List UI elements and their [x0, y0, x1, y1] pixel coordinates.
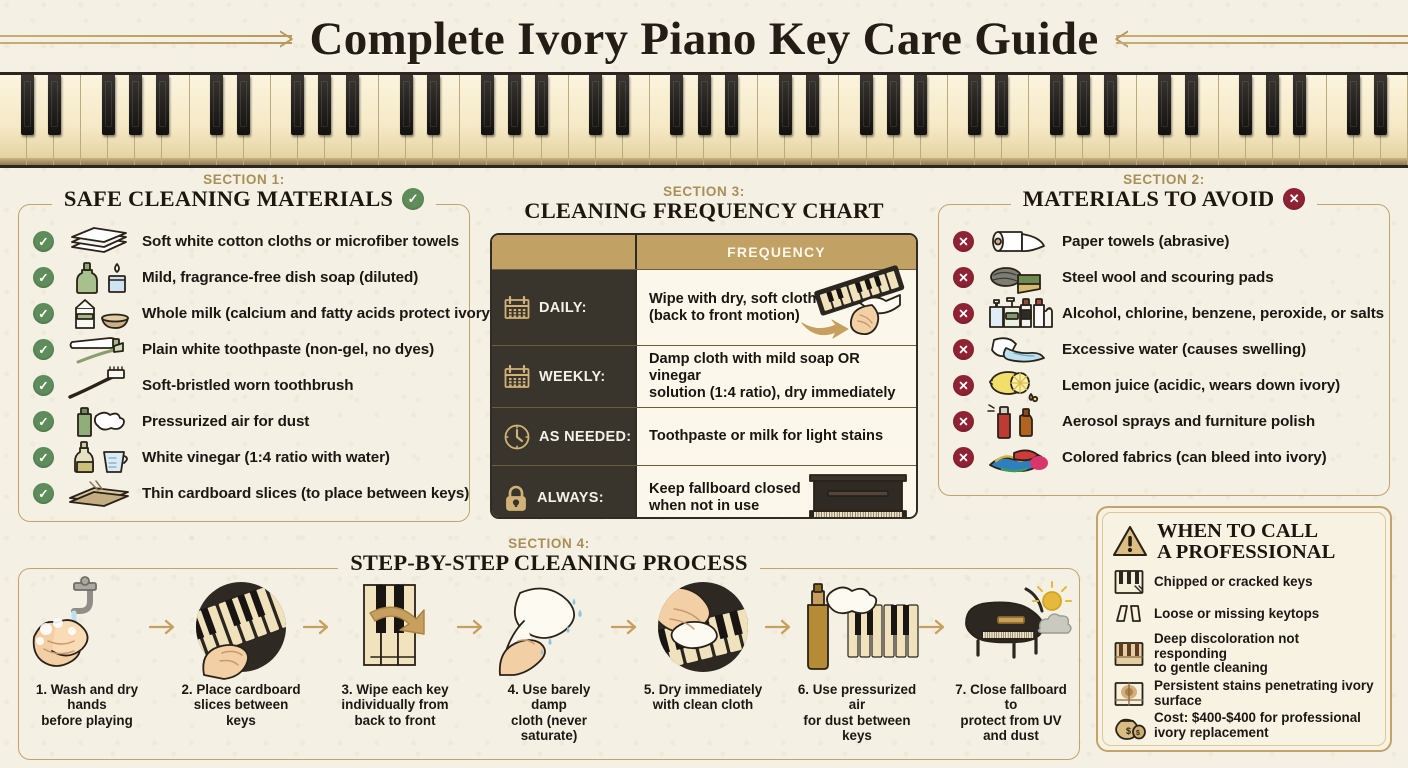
frequency-row: ALWAYS:Keep fallboard closedwhen not in …	[492, 465, 916, 519]
professional-header: WHEN TO CALL A PROFESSIONAL	[1112, 521, 1375, 563]
black-key	[318, 75, 331, 135]
frequency-row-label-cell: DAILY:	[492, 270, 637, 345]
cleaning-step: 2. Place cardboardslices between keys	[181, 579, 301, 728]
section2-kicker: SECTION 2:	[939, 172, 1389, 187]
list-item: ✕Lemon juice (acidic, wears down ivory)	[953, 367, 1379, 403]
warning-triangle-icon	[1112, 525, 1148, 558]
black-key	[806, 75, 819, 135]
frequency-row-text: Toothpaste or milk for light stains	[649, 428, 883, 445]
black-key	[291, 75, 304, 135]
frequency-row: WEEKLY:Damp cloth with mild soap OR vine…	[492, 345, 916, 407]
professional-box-inner: WHEN TO CALL A PROFESSIONAL Chipped or c…	[1102, 512, 1386, 746]
drying-keys-art	[644, 579, 762, 675]
section3-header: SECTION 3: CLEANING FREQUENCY CHART	[490, 184, 918, 224]
toothbrush-icon	[62, 368, 136, 402]
frequency-table-head: FREQUENCY	[492, 235, 916, 269]
list-item-label: Soft-bristled worn toothbrush	[142, 377, 353, 394]
loose-keytops-icon	[1112, 600, 1146, 629]
list-item: ✓Soft white cotton cloths or microfiber …	[33, 223, 459, 259]
washing-hands-faucet-art	[28, 579, 146, 675]
cleaning-step-caption: 3. Wipe each keyindividually fromback to…	[341, 682, 448, 728]
cross-icon: ✕	[953, 447, 974, 468]
grand-piano-closed-art	[952, 579, 1070, 675]
frequency-row-label-cell: WEEKLY:	[492, 346, 637, 407]
black-key	[237, 75, 250, 135]
black-key	[1293, 75, 1306, 135]
professional-reason-item: Loose or missing keytops	[1112, 600, 1375, 629]
black-key	[589, 75, 602, 135]
folded-cloths-icon	[62, 224, 136, 258]
vinegar-bottle-measuring-cup-icon	[62, 440, 136, 474]
cleaning-step: 3. Wipe each keyindividually fromback to…	[335, 579, 455, 728]
check-icon: ✓	[33, 339, 54, 360]
black-key	[616, 75, 629, 135]
check-icon: ✓	[33, 303, 54, 324]
infographic-page: Complete Ivory Piano Key Care Guide SECT…	[0, 0, 1408, 768]
black-key	[1347, 75, 1360, 135]
frequency-row: AS NEEDED:Toothpaste or milk for light s…	[492, 407, 916, 465]
cleaning-step: 7. Close fallboard toprotect from UVand …	[951, 579, 1071, 743]
title-rule-left	[0, 30, 292, 48]
professional-reason-label: Cost: $400-$400 for professionalivory re…	[1154, 711, 1361, 740]
cross-icon: ✕	[953, 375, 974, 396]
cleaning-step-caption: 2. Place cardboardslices between keys	[181, 682, 301, 728]
black-key	[427, 75, 440, 135]
section1-kicker: SECTION 1:	[19, 172, 469, 187]
list-item: ✓Mild, fragrance-free dish soap (diluted…	[33, 259, 459, 295]
list-item-label: Mild, fragrance-free dish soap (diluted)	[142, 269, 418, 286]
black-key	[210, 75, 223, 135]
frequency-row-text: Keep fallboard closedwhen not in use	[649, 481, 801, 515]
professional-reason-label: Persistent stains penetrating ivorysurfa…	[1154, 679, 1374, 708]
step-arrow-icon	[455, 579, 489, 675]
black-key	[535, 75, 548, 135]
list-item-label: White vinegar (1:4 ratio with water)	[142, 449, 390, 466]
cardboard-between-keys-art	[182, 579, 300, 675]
upright-piano-art	[802, 469, 914, 519]
cross-icon: ✕	[953, 267, 974, 288]
section-materials-to-avoid: SECTION 2: MATERIALS TO AVOID ✕ ✕Paper t…	[938, 204, 1390, 496]
section-safe-materials: SECTION 1: SAFE CLEANING MATERIALS ✓ ✓So…	[18, 204, 470, 522]
list-item-label: Alcohol, chlorine, benzene, peroxide, or…	[1062, 305, 1384, 322]
check-icon: ✓	[33, 447, 54, 468]
black-key	[102, 75, 115, 135]
black-keys	[0, 75, 1408, 135]
list-item: ✕Paper towels (abrasive)	[953, 223, 1379, 259]
black-key	[1050, 75, 1063, 135]
black-key	[508, 75, 521, 135]
professional-title: WHEN TO CALL A PROFESSIONAL	[1157, 521, 1335, 563]
cleaning-step: 5. Dry immediatelywith clean cloth	[643, 579, 763, 713]
black-key	[21, 75, 34, 135]
list-item-label: Soft white cotton cloths or microfiber t…	[142, 233, 459, 250]
chemical-bottles-icon	[982, 296, 1056, 330]
spilled-water-glass-icon	[982, 332, 1056, 366]
frequency-head-left	[492, 235, 637, 269]
check-icon: ✓	[33, 231, 54, 252]
list-item-label: Colored fabrics (can bleed into ivory)	[1062, 449, 1327, 466]
section3-title: CLEANING FREQUENCY CHART	[524, 198, 883, 224]
stained-key-icon	[1112, 679, 1146, 708]
list-item: ✓Soft-bristled worn toothbrush	[33, 367, 459, 403]
milk-carton-bowl-icon	[62, 296, 136, 330]
list-item: ✓Pressurized air for dust	[33, 403, 459, 439]
air-duster-can-icon	[62, 404, 136, 438]
black-key	[995, 75, 1008, 135]
clock-icon	[504, 424, 530, 450]
lock-icon	[504, 485, 528, 511]
professional-reason-label: Deep discoloration not respondingto gent…	[1154, 632, 1375, 676]
check-icon: ✓	[33, 483, 54, 504]
pressurized-air-keys-art	[798, 579, 916, 675]
professional-reason-item: Deep discoloration not respondingto gent…	[1112, 632, 1375, 676]
title-banner: Complete Ivory Piano Key Care Guide	[0, 6, 1408, 72]
frequency-row-text-cell: Damp cloth with mild soap OR vinegarsolu…	[637, 346, 916, 407]
cleaning-frequency-table: FREQUENCY DAILY:Wipe with dry, soft clot…	[490, 233, 918, 519]
list-item: ✕Alcohol, chlorine, benzene, peroxide, o…	[953, 295, 1379, 331]
cardboard-slices-icon	[62, 476, 136, 510]
frequency-row-text-cell: Keep fallboard closedwhen not in use	[637, 466, 916, 519]
list-item-label: Excessive water (causes swelling)	[1062, 341, 1306, 358]
aerosol-spray-polish-icon	[982, 404, 1056, 438]
cleaning-step-caption: 7. Close fallboard toprotect from UVand …	[951, 682, 1071, 743]
cross-icon: ✕	[953, 339, 974, 360]
section4-title: STEP-BY-STEP CLEANING PROCESS	[338, 550, 760, 576]
list-item: ✕Colored fabrics (can bleed into ivory)	[953, 439, 1379, 475]
wipe-key-back-to-front-art	[336, 579, 454, 675]
frequency-row-text-cell: Toothpaste or milk for light stains	[637, 408, 916, 465]
damp-cloth-art	[490, 579, 608, 675]
cracked-keys-icon	[1112, 568, 1146, 597]
cross-icon: ✕	[953, 231, 974, 252]
list-item-label: Aerosol sprays and furniture polish	[1062, 413, 1315, 430]
frequency-rows: DAILY:Wipe with dry, soft cloth(back to …	[492, 269, 916, 519]
check-icon: ✓	[33, 267, 54, 288]
frequency-row-label: ALWAYS:	[537, 490, 604, 506]
cleaning-step: 4. Use barely dampcloth (never saturate)	[489, 579, 609, 743]
frequency-row-label: DAILY:	[539, 300, 587, 316]
black-key	[887, 75, 900, 135]
frequency-head-right: FREQUENCY	[637, 235, 916, 269]
cross-icon: ✕	[953, 411, 974, 432]
frequency-row-text-cell: Wipe with dry, soft cloth(back to front …	[637, 270, 916, 345]
list-item-label: Lemon juice (acidic, wears down ivory)	[1062, 377, 1340, 394]
cleaning-step-caption: 5. Dry immediatelywith clean cloth	[644, 682, 762, 713]
piano-keyboard-banner	[0, 72, 1408, 168]
black-key	[860, 75, 873, 135]
frequency-row-label-cell: AS NEEDED:	[492, 408, 637, 465]
black-key	[481, 75, 494, 135]
calendar-icon	[504, 296, 530, 320]
avoid-materials-list: ✕Paper towels (abrasive)✕Steel wool and …	[939, 205, 1389, 475]
list-item-label: Whole milk (calcium and fatty acids prot…	[142, 305, 495, 322]
black-key	[346, 75, 359, 135]
black-key	[1185, 75, 1198, 135]
list-item-label: Plain white toothpaste (non-gel, no dyes…	[142, 341, 434, 358]
list-item-label: Thin cardboard slices (to place between …	[142, 485, 469, 502]
cleaning-step: 6. Use pressurized airfor dust betweenke…	[797, 579, 917, 743]
discolored-keys-icon	[1112, 639, 1146, 668]
list-item: ✓Plain white toothpaste (non-gel, no dye…	[33, 331, 459, 367]
black-key	[1374, 75, 1387, 135]
list-item: ✓White vinegar (1:4 ratio with water)	[33, 439, 459, 475]
paper-towel-roll-icon	[982, 224, 1056, 258]
cleaning-step-caption: 1. Wash and dry handsbefore playing	[27, 682, 147, 728]
cleaning-step-caption: 4. Use barely dampcloth (never saturate)	[489, 682, 609, 743]
frequency-row-text: Damp cloth with mild soap OR vinegarsolu…	[649, 351, 908, 402]
professional-reason-item: $$Cost: $400-$400 for professionalivory …	[1112, 711, 1375, 740]
step-arrow-icon	[147, 579, 181, 675]
black-key	[129, 75, 142, 135]
page-title: Complete Ivory Piano Key Care Guide	[292, 12, 1117, 66]
black-key	[400, 75, 413, 135]
list-item: ✓Thin cardboard slices (to place between…	[33, 475, 459, 511]
cleaning-steps: 1. Wash and dry handsbefore playing2. Pl…	[27, 579, 1073, 743]
dish-soap-bottle-icon	[62, 260, 136, 294]
colored-fabrics-icon	[982, 440, 1056, 474]
svg-text:$: $	[1136, 730, 1140, 737]
list-item: ✕Excessive water (causes swelling)	[953, 331, 1379, 367]
cleaning-step: 1. Wash and dry handsbefore playing	[27, 579, 147, 728]
black-key	[968, 75, 981, 135]
list-item-label: Steel wool and scouring pads	[1062, 269, 1274, 286]
frequency-row-label: WEEKLY:	[539, 369, 606, 385]
black-key	[698, 75, 711, 135]
section4-header: SECTION 4: STEP-BY-STEP CLEANING PROCESS	[19, 536, 1079, 576]
toothpaste-tube-icon	[62, 332, 136, 366]
list-item: ✓Whole milk (calcium and fatty acids pro…	[33, 295, 459, 331]
check-icon: ✓	[33, 375, 54, 396]
black-key	[156, 75, 169, 135]
title-rule-right	[1116, 30, 1408, 48]
frequency-row: DAILY:Wipe with dry, soft cloth(back to …	[492, 269, 916, 345]
list-item-label: Pressurized air for dust	[142, 413, 309, 430]
step-arrow-icon	[301, 579, 335, 675]
professional-reason-item: Persistent stains penetrating ivorysurfa…	[1112, 679, 1375, 708]
frequency-row-label-cell: ALWAYS:	[492, 466, 637, 519]
lemon-icon	[982, 368, 1056, 402]
black-key	[1077, 75, 1090, 135]
section4-kicker: SECTION 4:	[19, 536, 1079, 551]
black-key	[1104, 75, 1117, 135]
section-step-by-step: SECTION 4: STEP-BY-STEP CLEANING PROCESS…	[18, 568, 1080, 760]
calendar-icon	[504, 365, 530, 389]
safe-materials-list: ✓Soft white cotton cloths or microfiber …	[19, 205, 469, 511]
black-key	[1266, 75, 1279, 135]
professional-reasons-list: Chipped or cracked keysLoose or missing …	[1112, 568, 1375, 741]
black-key	[779, 75, 792, 135]
check-icon: ✓	[33, 411, 54, 432]
list-item-label: Paper towels (abrasive)	[1062, 233, 1229, 250]
black-key	[48, 75, 61, 135]
section3-kicker: SECTION 3:	[490, 184, 918, 199]
step-arrow-icon	[609, 579, 643, 675]
black-key	[670, 75, 683, 135]
when-to-call-professional-box: WHEN TO CALL A PROFESSIONAL Chipped or c…	[1096, 506, 1392, 752]
frequency-row-text: Wipe with dry, soft cloth(back to front …	[649, 291, 816, 325]
black-key	[1158, 75, 1171, 135]
frequency-row-label: AS NEEDED:	[539, 429, 631, 445]
professional-reason-label: Chipped or cracked keys	[1154, 575, 1313, 590]
professional-reason-label: Loose or missing keytops	[1154, 607, 1319, 622]
black-key	[914, 75, 927, 135]
list-item: ✕Aerosol sprays and furniture polish	[953, 403, 1379, 439]
money-bag-icon: $$	[1112, 712, 1146, 741]
black-key	[1239, 75, 1252, 135]
svg-text:$: $	[1126, 726, 1131, 736]
steel-wool-scouring-pad-icon	[982, 260, 1056, 294]
list-item: ✕Steel wool and scouring pads	[953, 259, 1379, 295]
professional-title-line2: A PROFESSIONAL	[1157, 541, 1335, 563]
black-key	[725, 75, 738, 135]
step-arrow-icon	[917, 579, 951, 675]
professional-reason-item: Chipped or cracked keys	[1112, 568, 1375, 597]
professional-title-line1: WHEN TO CALL	[1157, 520, 1318, 542]
step-arrow-icon	[763, 579, 797, 675]
cleaning-step-caption: 6. Use pressurized airfor dust betweenke…	[797, 682, 917, 743]
cross-icon: ✕	[953, 303, 974, 324]
